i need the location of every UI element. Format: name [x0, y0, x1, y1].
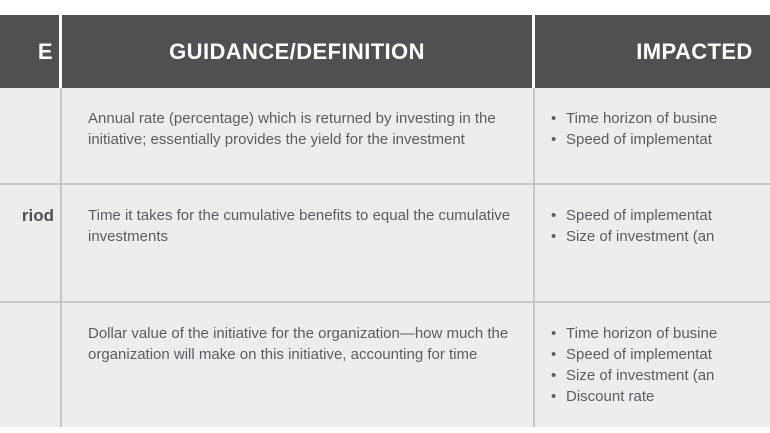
list-item: Time horizon of busine [549, 323, 746, 344]
column-header-measure-label: E [10, 39, 53, 65]
measures-comparison-table: E GUIDANCE/DEFINITION IMPACTED Annual ra… [0, 15, 770, 427]
list-item: Speed of implementat [549, 205, 746, 226]
impacted-list: Time horizon of busine Speed of implemen… [549, 108, 746, 150]
guidance-text: Annual rate (percentage) which is return… [88, 108, 517, 150]
column-header-guidance-label: GUIDANCE/DEFINITION [72, 39, 522, 65]
table-row: Dollar value of the initiative for the o… [0, 303, 770, 427]
column-header-guidance: GUIDANCE/DEFINITION [62, 15, 535, 88]
measure-label: riod [0, 205, 54, 226]
list-item: Speed of implementat [549, 344, 746, 365]
list-item: Time horizon of busine [549, 108, 746, 129]
cell-measure: riod [0, 185, 62, 303]
guidance-text: Time it takes for the cumulative benefit… [88, 205, 517, 247]
cell-guidance: Annual rate (percentage) which is return… [62, 88, 535, 185]
comparison-table-container: E GUIDANCE/DEFINITION IMPACTED Annual ra… [0, 15, 770, 427]
table-row: Annual rate (percentage) which is return… [0, 88, 770, 185]
cell-measure [0, 303, 62, 427]
list-item: Size of investment (an [549, 226, 746, 247]
impacted-list: Speed of implementat Size of investment … [549, 205, 746, 247]
table-body: Annual rate (percentage) which is return… [0, 88, 770, 427]
column-header-impacted: IMPACTED [535, 15, 770, 88]
table-header: E GUIDANCE/DEFINITION IMPACTED [0, 15, 770, 88]
list-item: Speed of implementat [549, 129, 746, 150]
cell-guidance: Time it takes for the cumulative benefit… [62, 185, 535, 303]
guidance-text: Dollar value of the initiative for the o… [88, 323, 517, 365]
cell-impacted: Time horizon of busine Speed of implemen… [535, 303, 770, 427]
cell-guidance: Dollar value of the initiative for the o… [62, 303, 535, 427]
table-row: riod Time it takes for the cumulative be… [0, 185, 770, 303]
list-item: Discount rate [549, 386, 746, 407]
column-header-measure: E [0, 15, 62, 88]
list-item: Size of investment (an [549, 365, 746, 386]
impacted-list: Time horizon of busine Speed of implemen… [549, 323, 746, 407]
cell-measure [0, 88, 62, 185]
table-header-row: E GUIDANCE/DEFINITION IMPACTED [0, 15, 770, 88]
cell-impacted: Speed of implementat Size of investment … [535, 185, 770, 303]
cell-impacted: Time horizon of busine Speed of implemen… [535, 88, 770, 185]
column-header-impacted-label: IMPACTED [629, 39, 760, 65]
